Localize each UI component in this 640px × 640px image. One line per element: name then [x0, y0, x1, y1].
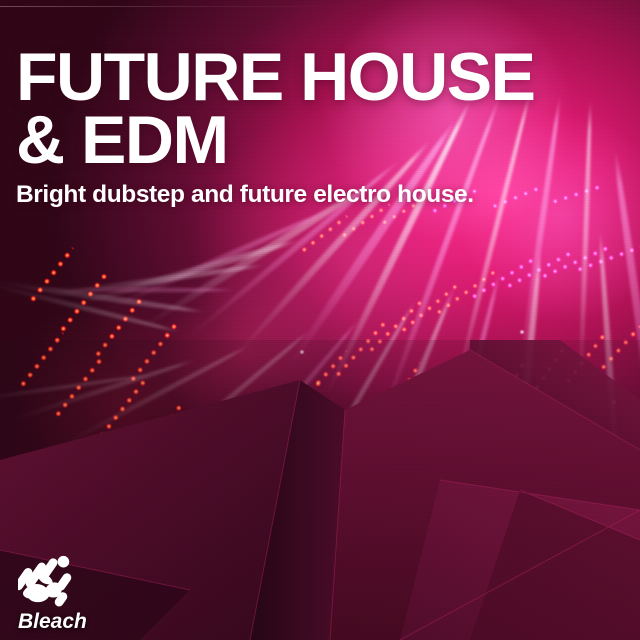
cover-copy-block: FUTURE HOUSE & EDM Bright dubstep and fu…	[16, 46, 620, 208]
cover-subtitle: Bright dubstep and future electro house.	[16, 183, 620, 208]
page-title: FUTURE HOUSE & EDM	[16, 46, 620, 171]
title-line-2: & EDM	[16, 109, 620, 172]
brand-logo: Bleach	[18, 553, 110, 632]
bleach-splatter-icon	[18, 553, 76, 609]
album-cover: FUTURE HOUSE & EDM Bright dubstep and fu…	[0, 0, 640, 640]
brand-name: Bleach	[18, 611, 110, 632]
